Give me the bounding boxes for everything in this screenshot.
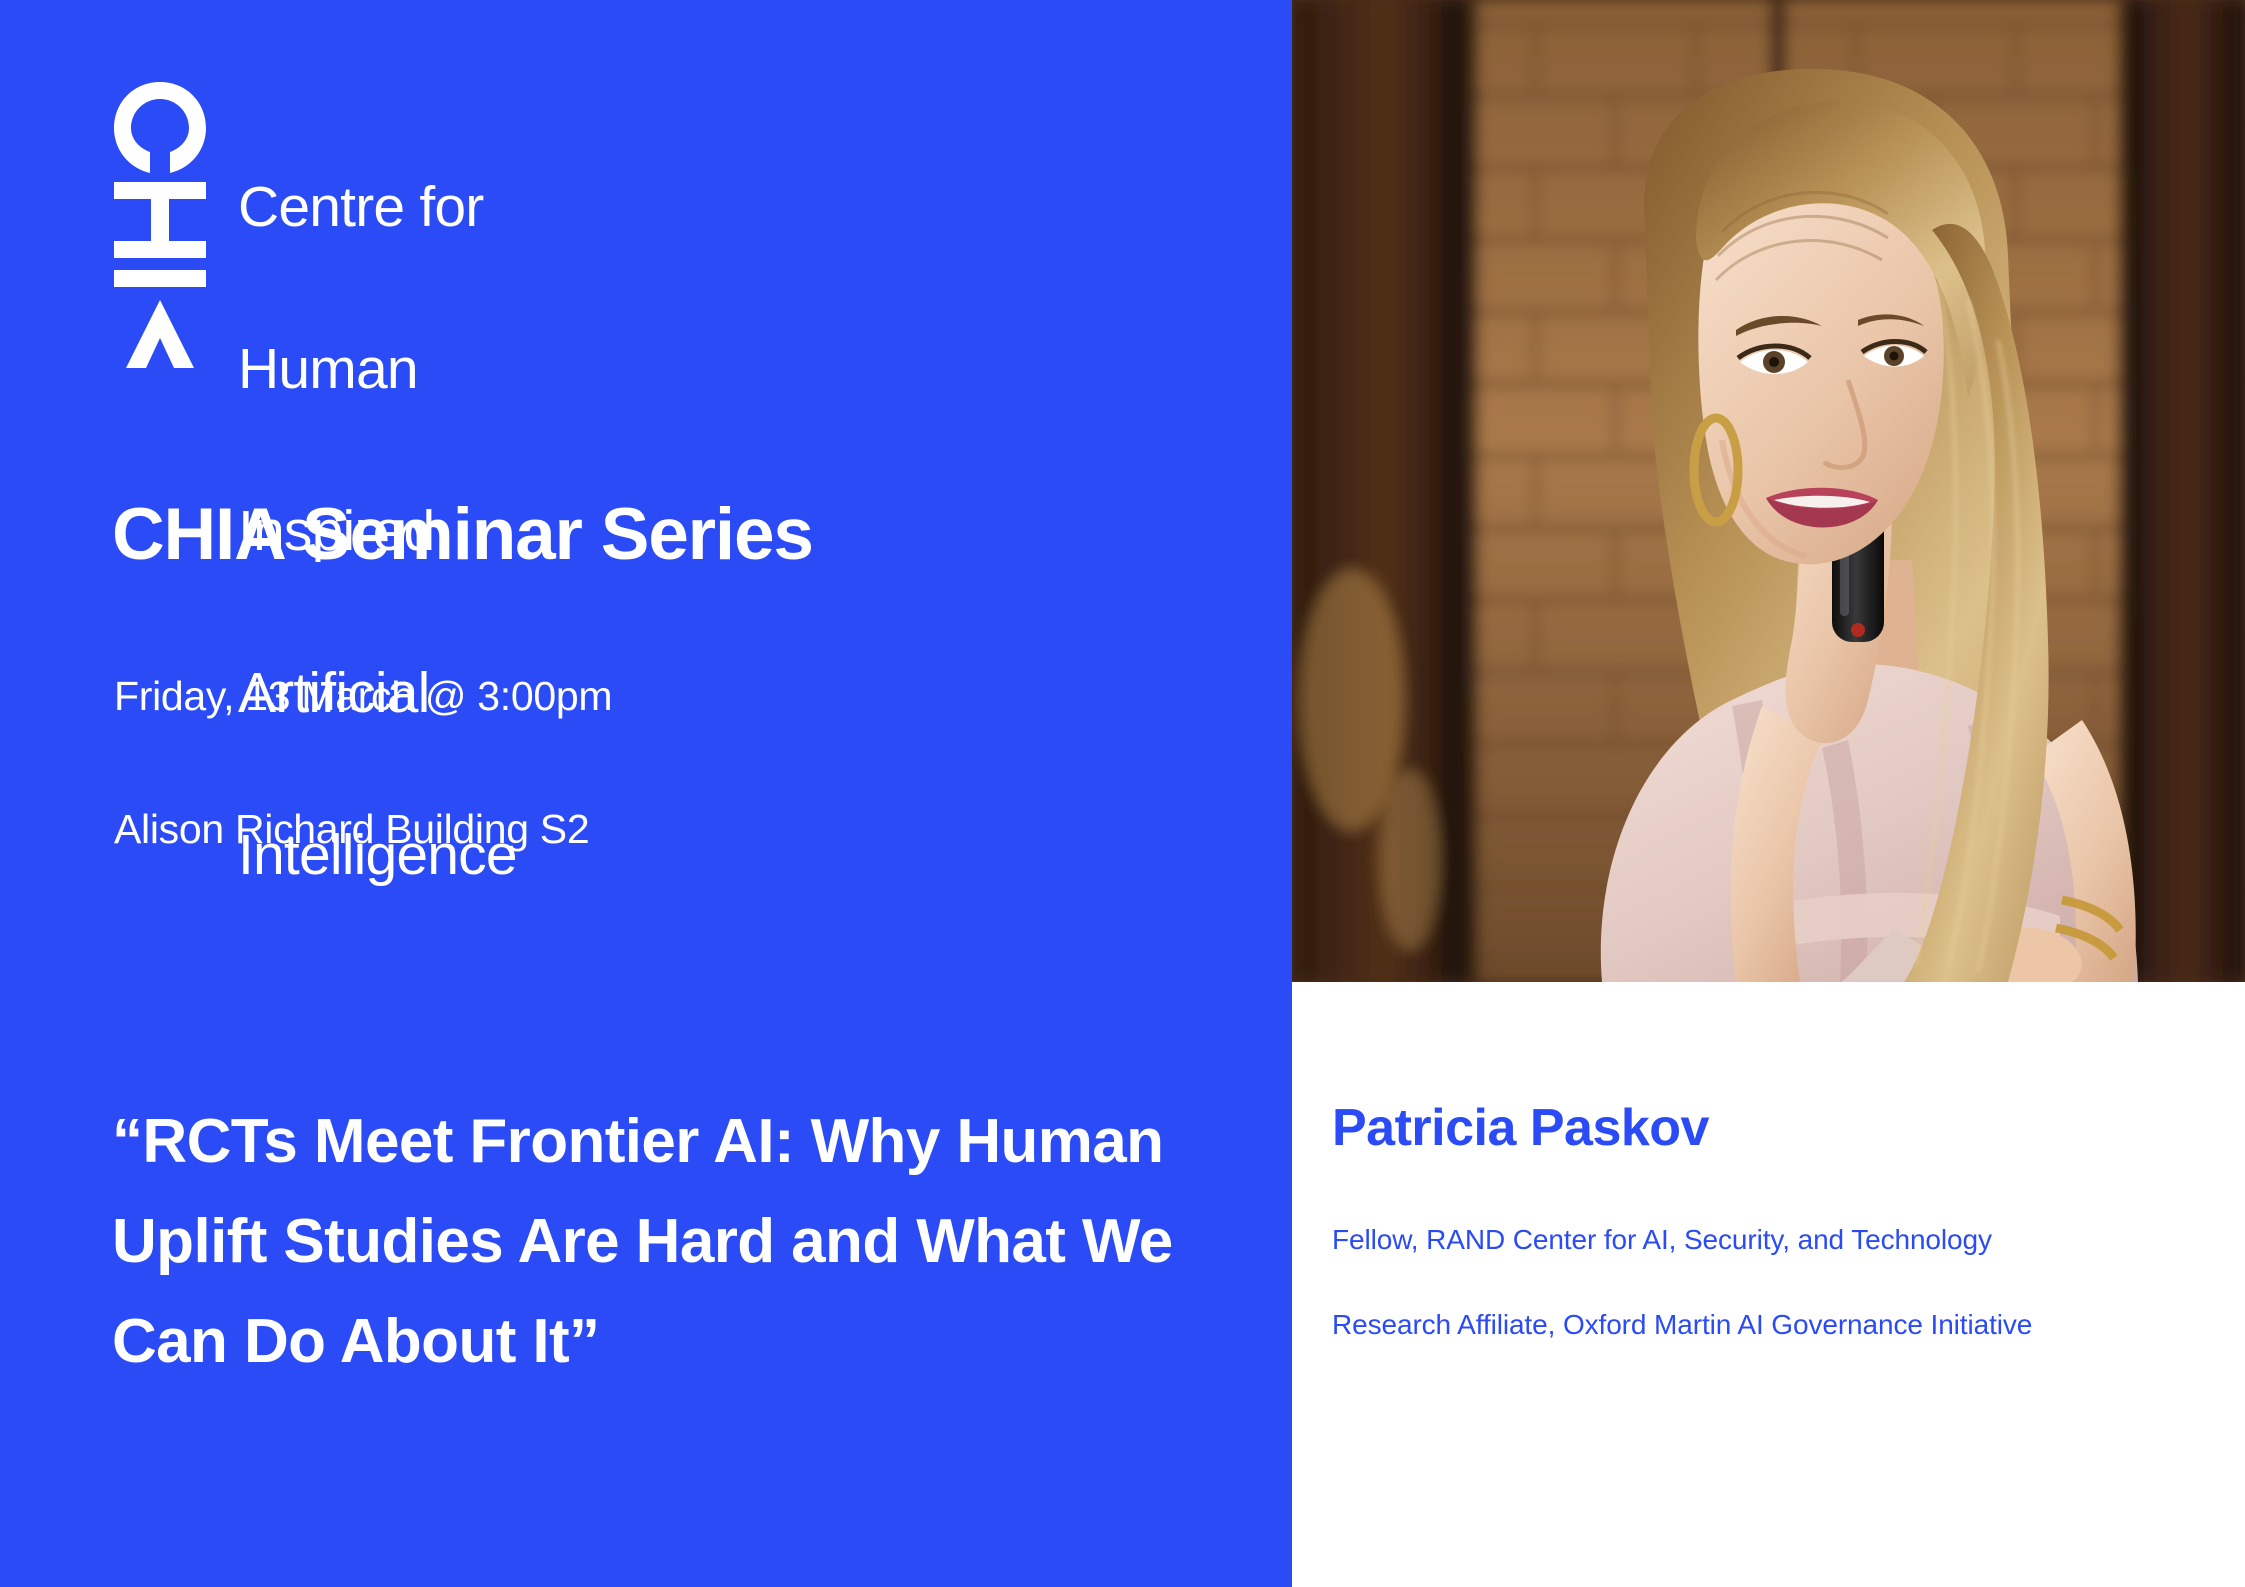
speaker-photo-image (1292, 0, 2245, 982)
event-location: Alison Richard Building S2 (114, 805, 589, 853)
talk-title: “RCTs Meet Frontier AI: Why Human Uplift… (112, 1092, 1202, 1392)
series-title: CHIA Seminar Series (112, 495, 813, 575)
wordmark-line-2: Human (238, 342, 517, 396)
speaker-name: Patricia Paskov (1332, 1098, 1709, 1158)
chia-monogram-icon (108, 78, 212, 368)
seminar-poster: Centre for Human Inspired Artificial Int… (0, 0, 2245, 1587)
event-date: Friday, 13 March @ 3:00pm (114, 672, 612, 720)
speaker-info-panel (1292, 982, 2245, 1587)
wordmark-line-1: Centre for (238, 180, 517, 234)
speaker-affiliation-primary: Fellow, RAND Center for AI, Security, an… (1332, 1222, 1992, 1258)
speaker-affiliation-secondary: Research Affiliate, Oxford Martin AI Gov… (1332, 1307, 2032, 1343)
speaker-photo (1292, 0, 2245, 982)
